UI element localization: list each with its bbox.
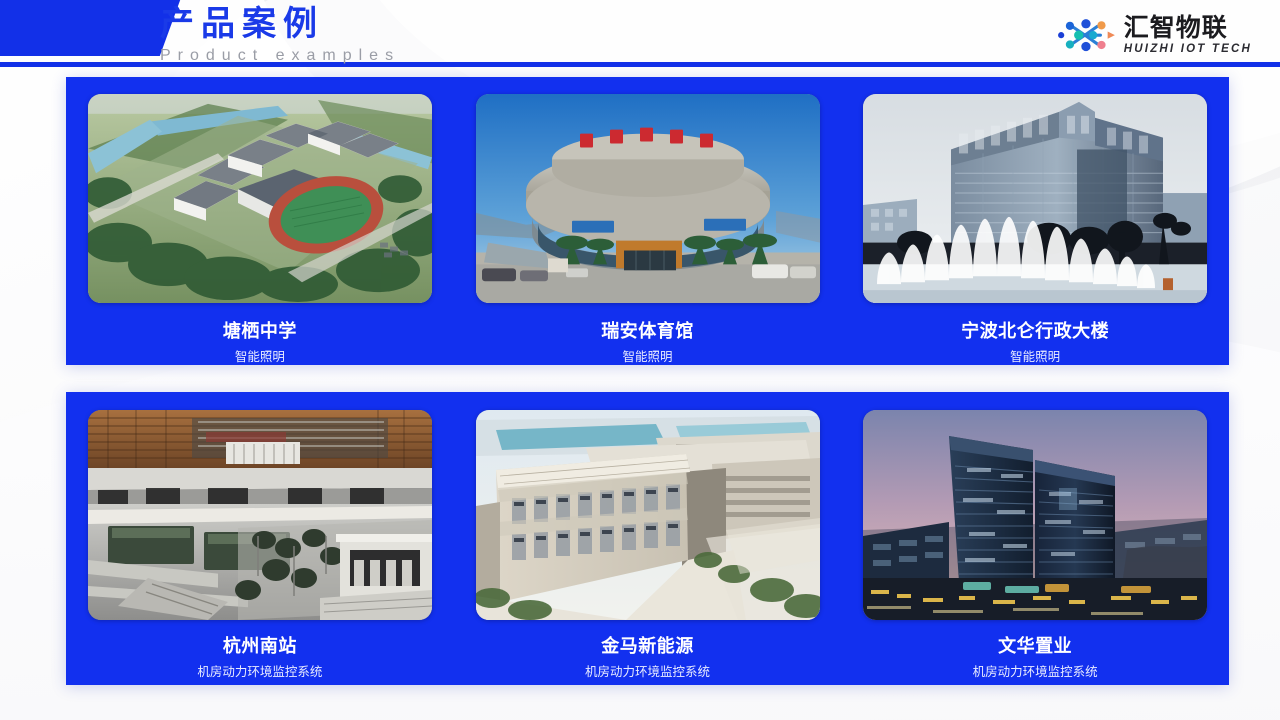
aerial-school-campus-photo [88, 94, 432, 303]
case-card-subtitle: 智能照明 [1010, 349, 1060, 365]
ningbo-beilun-admin-building-photo [863, 94, 1207, 303]
ruian-gymnasium-photo [476, 94, 820, 303]
cases-panel-row-1: 塘栖中学 智能照明 [66, 77, 1229, 365]
case-card-subtitle: 机房动力环境监控系统 [585, 664, 710, 680]
case-card-title: 瑞安体育馆 [601, 320, 694, 342]
molecule-network-icon [1056, 15, 1118, 55]
case-card-title: 宁波北仑行政大楼 [961, 320, 1109, 342]
case-card-subtitle: 智能照明 [623, 349, 673, 365]
page-title-cn: 产品案例 [160, 2, 400, 46]
case-card-title: 塘栖中学 [223, 320, 297, 342]
logo-wordmark: 汇智物联 HUIZHI IOT TECH [1124, 15, 1252, 56]
page-title: 产品案例 Product examples [160, 0, 400, 65]
jinma-new-energy-park-photo [476, 410, 820, 620]
case-card[interactable]: 瑞安体育馆 智能照明 [454, 77, 842, 365]
case-card-title: 文华置业 [998, 635, 1072, 657]
case-card-subtitle: 智能照明 [235, 349, 285, 365]
logo-name-cn: 汇智物联 [1124, 15, 1252, 42]
case-card-subtitle: 机房动力环境监控系统 [197, 664, 322, 680]
slide-root: 产品案例 Product examples [0, 0, 1280, 720]
logo-name-en: HUIZHI IOT TECH [1124, 42, 1252, 56]
page-title-en: Product examples [160, 47, 400, 65]
case-card[interactable]: 宁波北仑行政大楼 智能照明 [841, 77, 1229, 365]
case-card[interactable]: 文华置业 机房动力环境监控系统 [841, 392, 1229, 685]
case-card-title: 金马新能源 [601, 635, 694, 657]
case-card[interactable]: 杭州南站 机房动力环境监控系统 [66, 392, 454, 685]
case-card[interactable]: 塘栖中学 智能照明 [66, 77, 454, 365]
company-logo: 汇智物联 HUIZHI IOT TECH [1056, 10, 1252, 60]
header-accent-shape [0, 0, 180, 56]
cases-panel-row-2: 杭州南站 机房动力环境监控系统 [66, 392, 1229, 685]
case-card[interactable]: 金马新能源 机房动力环境监控系统 [454, 392, 842, 685]
case-card-title: 杭州南站 [223, 635, 297, 657]
case-card-subtitle: 机房动力环境监控系统 [973, 664, 1098, 680]
wenhua-real-estate-towers-photo [863, 410, 1207, 620]
hangzhou-south-station-photo [88, 410, 432, 620]
